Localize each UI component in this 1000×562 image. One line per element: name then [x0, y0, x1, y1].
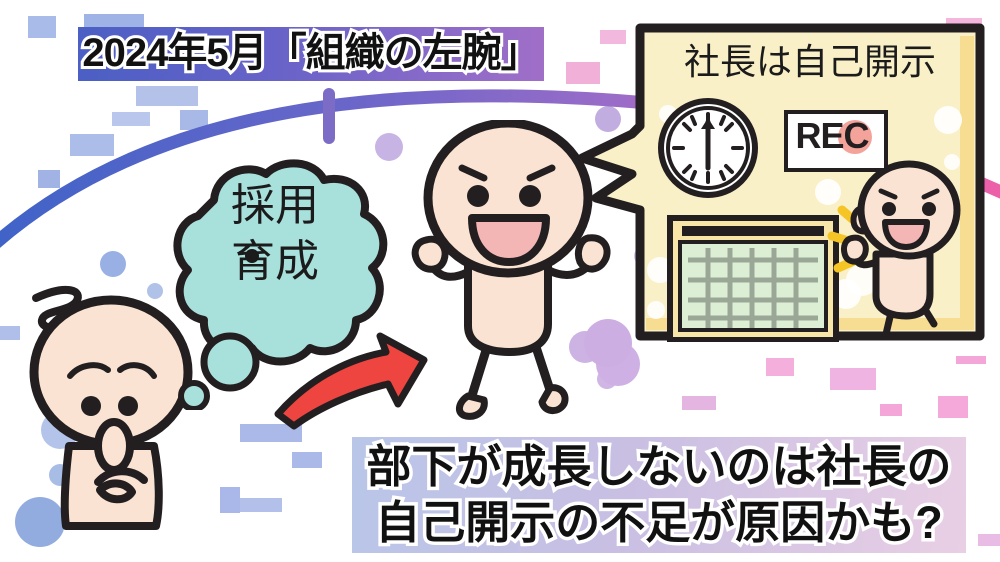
deco-rect-blue	[70, 134, 114, 156]
deco-rect-pink	[880, 404, 902, 416]
deco-rect-pink	[682, 396, 716, 410]
deco-rect-pink	[830, 368, 876, 390]
thought-line-2: 育成	[185, 234, 365, 290]
deco-rect-blue	[136, 86, 198, 106]
clock-icon	[661, 101, 755, 195]
deco-rect-blue	[28, 16, 56, 38]
panel-bubble-dot	[934, 106, 962, 134]
cheerful-person-eye-right	[519, 185, 541, 207]
worried-person-eye-right	[118, 396, 138, 416]
worried-person-eye-left	[81, 396, 101, 416]
thought-bubble-dot-large	[204, 336, 256, 388]
thought-bubble-dot-small	[181, 383, 207, 409]
thought-bubble-text: 採用 育成	[185, 178, 365, 290]
panel-person-mouth	[885, 222, 927, 247]
illustration-canvas: 採用 育成	[0, 0, 1000, 562]
caption-line-1: 部下が成長しないのは社長の	[366, 439, 951, 495]
worried-person-finger	[100, 483, 132, 499]
cheerful-person-mouth	[472, 218, 546, 262]
panel-person-eye-left	[882, 202, 896, 216]
panel-person-body	[876, 254, 930, 316]
thought-line-1: 採用	[185, 178, 365, 234]
worried-person-hand	[98, 422, 130, 470]
cheerful-person-eye-left	[467, 185, 489, 207]
deco-rect-pink	[766, 358, 794, 376]
cheerful-person-foot-left	[459, 396, 484, 416]
deco-rect-pink	[978, 534, 1000, 546]
cheerful-person-leg-left	[470, 344, 488, 402]
panel-bubble-dot	[647, 301, 665, 319]
panel-bubble-dot	[944, 154, 960, 170]
deco-rect-pink	[956, 356, 986, 364]
rec-badge-label: REC	[784, 110, 880, 164]
speech-panel-heading: 社長は自己開示	[655, 33, 965, 85]
deco-rect-blue	[38, 170, 60, 188]
calendar-icon	[670, 218, 836, 340]
caption-text: 部下が成長しないのは社長の 自己開示の不足が原因かも?	[352, 437, 966, 553]
deco-rect-blue	[292, 452, 322, 468]
deco-rect-blue	[112, 112, 150, 126]
panel-bubble-dot	[815, 179, 841, 205]
deco-rect-pink	[938, 396, 968, 418]
cheerful-person-foot-right	[542, 388, 565, 411]
panel-person-eye-right	[922, 202, 936, 216]
arc-tick-mark	[323, 88, 335, 144]
caption-line-2: 自己開示の不足が原因かも?	[375, 495, 943, 551]
thought-bubble-separator-dot	[245, 249, 259, 263]
title-text: 2024年5月「組織の左腕」	[78, 26, 544, 82]
panel-person-hand	[844, 238, 866, 262]
